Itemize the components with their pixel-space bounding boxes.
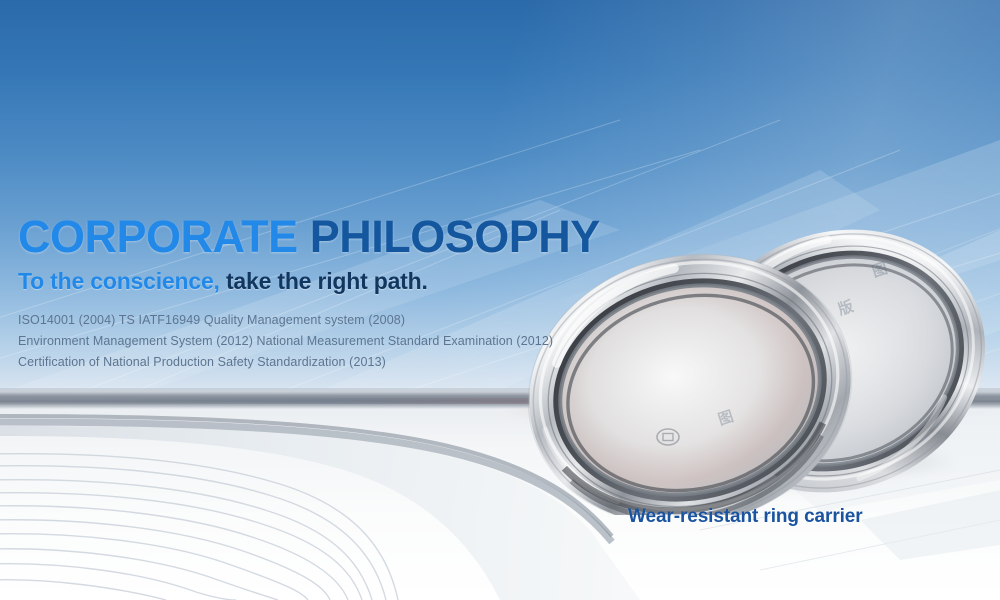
- certification-list: ISO14001 (2004) TS IATF16949 Quality Man…: [18, 310, 638, 373]
- page-subtitle-accent: To the conscience,: [18, 268, 220, 294]
- page-title: CORPORATE PHILOSOPHY: [18, 214, 638, 259]
- page-subtitle-deep: take the right path.: [220, 268, 428, 294]
- corporate-philosophy-banner: 图 版 图 CORPORATE PHILOSOPHY To the consci…: [0, 0, 1000, 600]
- certification-item: ISO14001 (2004) TS IATF16949 Quality Man…: [18, 310, 638, 331]
- certification-item: Certification of National Production Saf…: [18, 352, 638, 373]
- product-caption: Wear-resistant ring carrier: [628, 506, 863, 528]
- headline-copy-block: CORPORATE PHILOSOPHY To the conscience, …: [18, 214, 638, 373]
- certification-item: Environment Management System (2012) Nat…: [18, 331, 638, 352]
- page-title-deep: PHILOSOPHY: [310, 211, 600, 262]
- page-subtitle: To the conscience, take the right path.: [18, 270, 638, 293]
- page-title-accent: CORPORATE: [18, 211, 310, 262]
